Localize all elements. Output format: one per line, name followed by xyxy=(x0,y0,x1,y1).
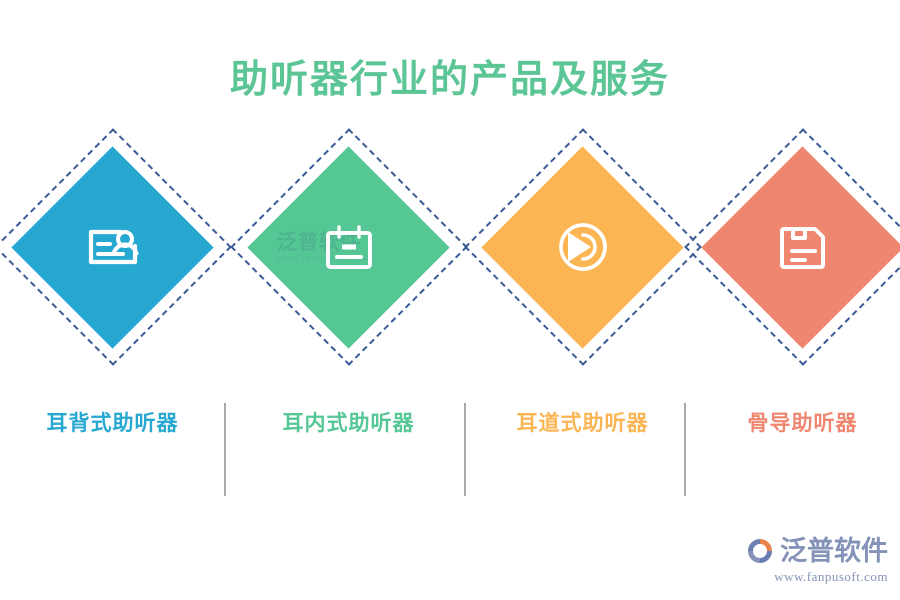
column-divider xyxy=(684,403,686,496)
sound-wave-pie-icon xyxy=(551,215,615,279)
page-title: 助听器行业的产品及服务 xyxy=(0,48,900,103)
diamond-card-in-the-canal[interactable] xyxy=(470,140,695,355)
calendar-icon xyxy=(317,215,381,279)
logo-brand-name: 泛普软件 xyxy=(780,535,888,567)
card-label-in-the-ear: 耳内式助听器 xyxy=(236,407,461,437)
column-divider xyxy=(224,403,226,496)
diamond-card-in-the-ear[interactable]: 泛普软件 www.fanpusoft.com xyxy=(236,140,461,355)
logo-row: 泛普软件 xyxy=(738,534,888,568)
card-label-in-the-canal: 耳道式助听器 xyxy=(470,407,695,437)
logo-website-url: www.fanpusoft.com xyxy=(738,569,888,585)
contact-card-icon xyxy=(81,215,145,279)
diamond-card-row: 泛普软件 www.fanpusoft.com xyxy=(0,140,900,355)
infographic-page: 助听器行业的产品及服务 xyxy=(0,0,900,600)
diamond-card-behind-the-ear[interactable] xyxy=(0,140,225,355)
label-row: 耳背式助听器 耳内式助听器 耳道式助听器 骨导助听器 xyxy=(0,403,900,498)
brand-logo: 泛普软件 www.fanpusoft.com xyxy=(738,534,888,588)
diamond-card-bone-conduction[interactable] xyxy=(690,140,900,355)
document-save-icon xyxy=(771,215,835,279)
column-divider xyxy=(464,403,466,496)
fanpu-logo-icon xyxy=(744,535,776,567)
card-label-bone-conduction: 骨导助听器 xyxy=(690,407,900,437)
card-label-behind-the-ear: 耳背式助听器 xyxy=(0,407,225,437)
